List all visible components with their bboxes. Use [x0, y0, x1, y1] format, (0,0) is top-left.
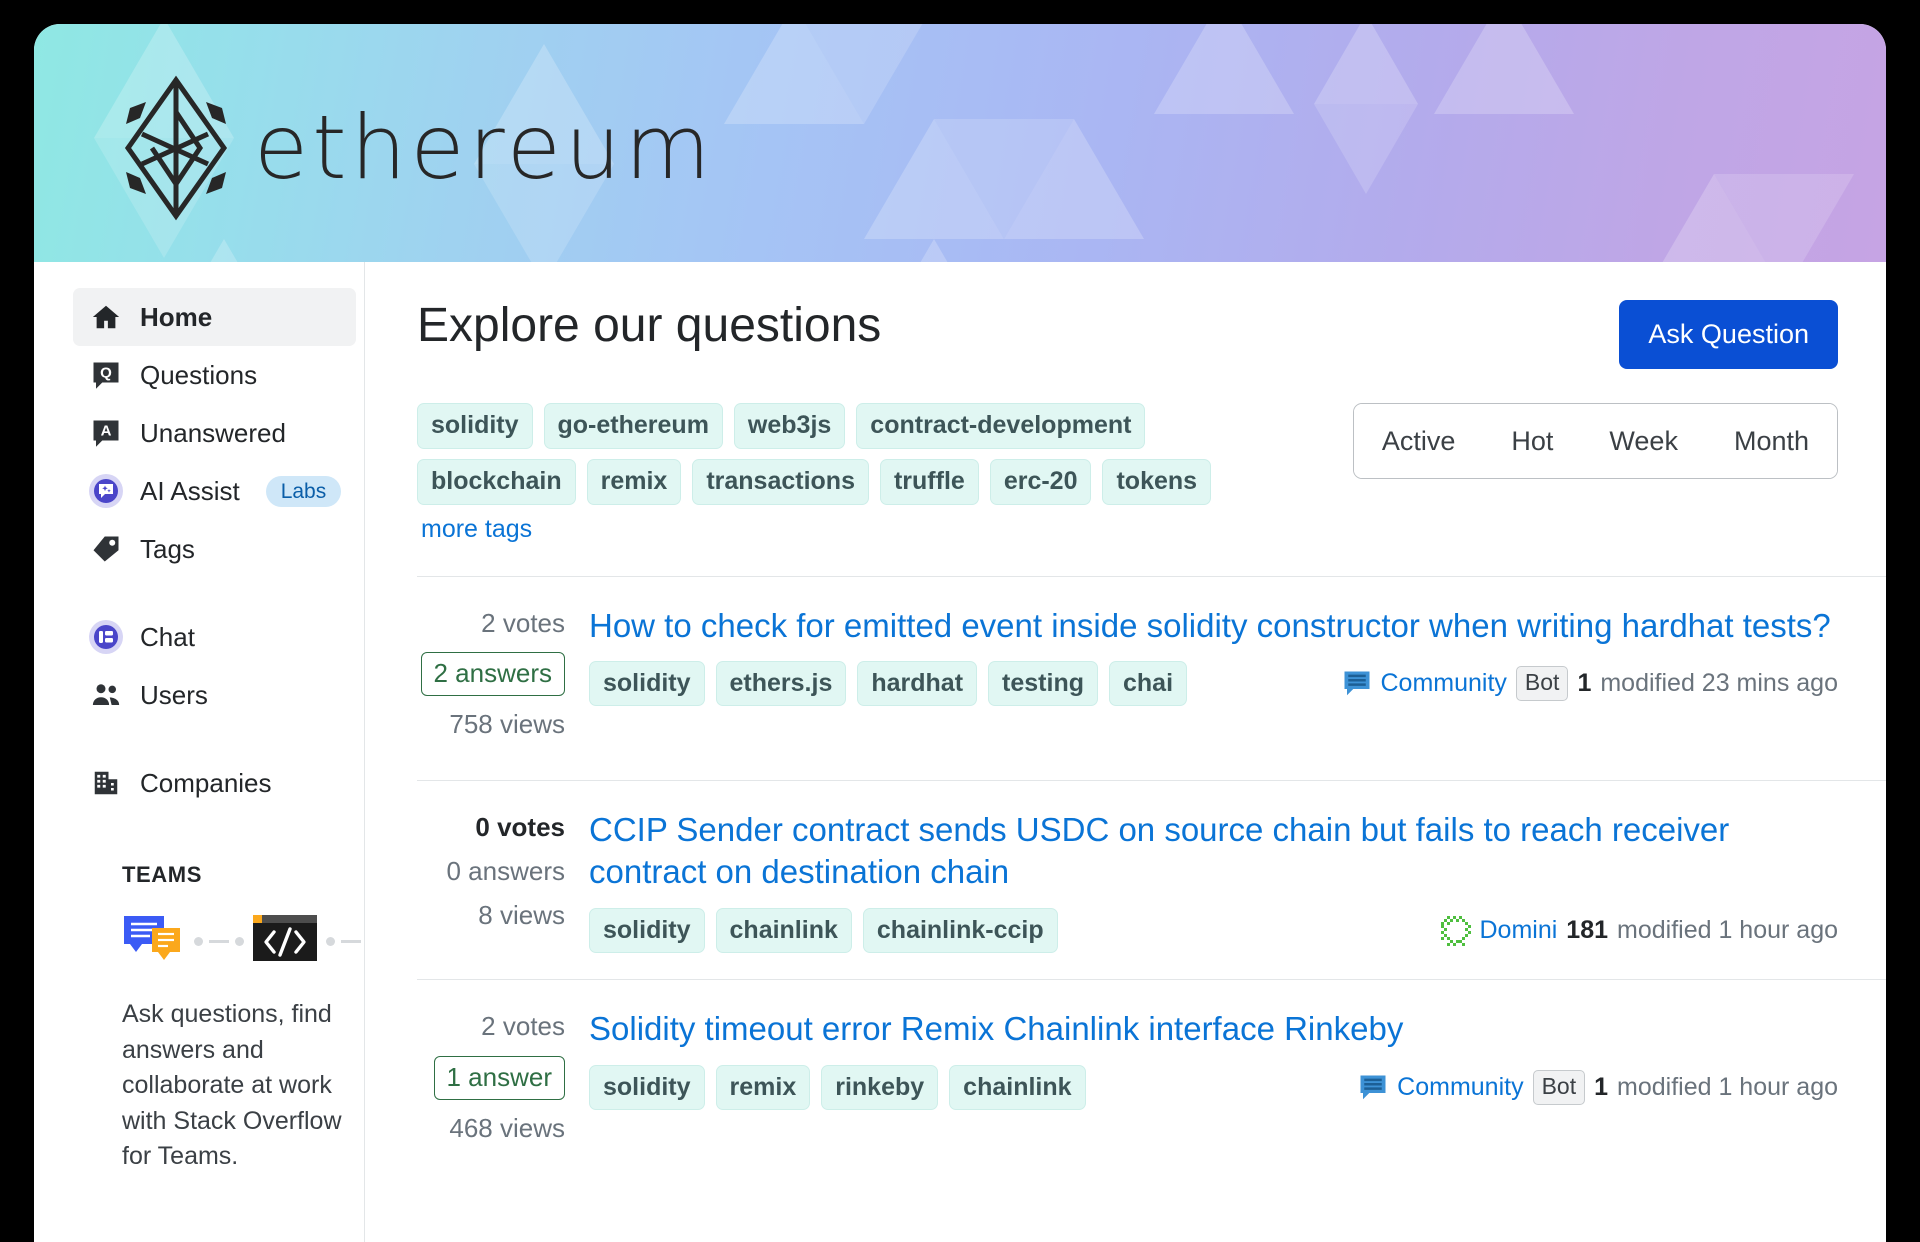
view-count: 468 views [417, 1114, 565, 1144]
community-stack-icon [1342, 669, 1372, 699]
home-icon [89, 300, 123, 334]
main-column: Explore our questions Ask Question solid… [365, 262, 1886, 1242]
tag-cloud: solidity go-ethereum web3js contract-dev… [417, 403, 1257, 544]
sidebar-item-ai-assist[interactable]: AI Assist Labs [73, 462, 356, 520]
teams-heading: TEAMS [122, 862, 364, 888]
question-tags: solidity ethers.js hardhat testing chai [589, 661, 1187, 707]
activity-time: modified 1 hour ago [1617, 1073, 1838, 1102]
tag-chip[interactable]: blockchain [417, 459, 576, 505]
reputation: 1 [1577, 669, 1591, 698]
sidebar-item-unanswered[interactable]: A Unanswered [73, 404, 356, 462]
tag-chip[interactable]: chainlink [716, 908, 852, 954]
code-window-icon [252, 914, 318, 969]
filter-row: solidity go-ethereum web3js contract-dev… [417, 369, 1886, 544]
tab-active[interactable]: Active [1354, 404, 1484, 478]
question-bubble-icon: Q [89, 358, 123, 392]
sidebar-item-label: AI Assist [140, 476, 240, 507]
site-wordmark: ethereum [254, 104, 714, 192]
decorative-triangle [154, 239, 294, 262]
question-meta: Domini 181 modified 1 hour ago [1441, 916, 1839, 946]
decorative-triangle [1434, 24, 1574, 114]
question-body: CCIP Sender contract sends USDC on sourc… [589, 809, 1838, 953]
tag-chip[interactable]: chai [1109, 661, 1187, 707]
question-footer: solidity chainlink chainlink-ccip [589, 908, 1838, 954]
answer-bubble-icon: A [89, 416, 123, 450]
decorative-triangle [1314, 104, 1418, 194]
question-title-link[interactable]: CCIP Sender contract sends USDC on sourc… [589, 809, 1838, 893]
question-stats: 2 votes 2 answers 758 views [417, 605, 589, 755]
building-icon [89, 766, 123, 800]
tag-chip[interactable]: truffle [880, 459, 979, 505]
site-logo[interactable]: ethereum [112, 72, 714, 224]
device-frame: ethereum Home [0, 0, 1920, 1242]
page-title: Explore our questions [417, 300, 881, 353]
reputation: 1 [1594, 1073, 1608, 1102]
bot-badge: Bot [1516, 666, 1569, 701]
ask-question-button[interactable]: Ask Question [1619, 300, 1838, 369]
question-title-link[interactable]: Solidity timeout error Remix Chainlink i… [589, 1008, 1838, 1050]
left-sidebar: Home Q Questions A [34, 262, 365, 1242]
tag-chip[interactable]: solidity [417, 403, 533, 449]
decorative-triangle [794, 24, 934, 124]
question-stats: 2 votes 1 answer 468 views [417, 1008, 589, 1158]
sidebar-item-companies[interactable]: Companies [73, 754, 356, 812]
author-link[interactable]: Community [1397, 1073, 1523, 1102]
question-row[interactable]: 2 votes 1 answer 468 views Solidity time… [417, 979, 1886, 1184]
question-list: 2 votes 2 answers 758 views How to check… [417, 576, 1886, 1185]
vote-count: 2 votes [417, 609, 565, 639]
question-row[interactable]: 2 votes 2 answers 758 views How to check… [417, 576, 1886, 781]
answer-count: 1 answer [434, 1056, 566, 1100]
tag-chip[interactable]: transactions [692, 459, 869, 505]
community-stack-icon [1358, 1073, 1388, 1103]
question-body: How to check for emitted event inside so… [589, 605, 1838, 755]
connector-line [194, 937, 244, 946]
tag-chip[interactable]: erc-20 [990, 459, 1092, 505]
sidebar-item-label: Home [140, 302, 212, 333]
question-row[interactable]: 0 votes 0 answers 8 views CCIP Sender co… [417, 780, 1886, 979]
tag-chip[interactable]: solidity [589, 908, 705, 954]
tag-chip[interactable]: solidity [589, 1065, 705, 1111]
activity-time: modified 1 hour ago [1617, 916, 1838, 945]
ai-sparkle-icon [89, 474, 123, 508]
main-header: Explore our questions Ask Question [417, 262, 1886, 369]
sidebar-spacer [34, 724, 364, 754]
question-stats: 0 votes 0 answers 8 views [417, 809, 589, 953]
sidebar-item-home[interactable]: Home [73, 288, 356, 346]
tag-chip[interactable]: remix [716, 1065, 811, 1111]
question-footer: solidity ethers.js hardhat testing chai [589, 661, 1838, 707]
decorative-triangle [864, 239, 1004, 262]
author-link[interactable]: Community [1381, 669, 1507, 698]
question-title-link[interactable]: How to check for emitted event inside so… [589, 605, 1838, 647]
question-meta: Community Bot 1 modified 23 mins ago [1342, 666, 1839, 701]
sidebar-item-label: Users [140, 680, 208, 711]
tag-chip[interactable]: tokens [1102, 459, 1211, 505]
sidebar-item-label: Chat [140, 622, 195, 653]
question-meta: Community Bot 1 modified 1 hour ago [1358, 1070, 1838, 1105]
tab-month[interactable]: Month [1706, 404, 1837, 478]
sidebar-item-chat[interactable]: Chat [73, 608, 356, 666]
tag-chip[interactable]: ethers.js [716, 661, 847, 707]
chat-icon [89, 620, 123, 654]
sidebar-item-label: Tags [140, 534, 195, 565]
tag-chip[interactable]: web3js [734, 403, 845, 449]
decorative-triangle [1714, 174, 1854, 262]
activity-time: modified 23 mins ago [1600, 669, 1838, 698]
tag-icon [89, 532, 123, 566]
tag-chip[interactable]: testing [988, 661, 1098, 707]
sidebar-spacer [34, 578, 364, 608]
teams-description: Ask questions, find answers and collabor… [122, 997, 377, 1175]
sidebar-item-label: Companies [140, 768, 272, 799]
page-content: Home Q Questions A [34, 262, 1886, 1242]
answer-count: 0 answers [417, 857, 565, 887]
tag-chip[interactable]: chainlink [949, 1065, 1085, 1111]
browser-viewport: ethereum Home [34, 24, 1886, 1242]
tag-chip[interactable]: rinkeby [821, 1065, 938, 1111]
ethereum-diamond-logo-icon [112, 72, 240, 224]
sidebar-item-label: Unanswered [140, 418, 286, 449]
svg-text:Q: Q [100, 365, 112, 382]
tab-week[interactable]: Week [1581, 404, 1706, 478]
tab-hot[interactable]: Hot [1483, 404, 1581, 478]
bot-badge: Bot [1533, 1070, 1586, 1105]
vote-count: 0 votes [417, 813, 565, 843]
question-body: Solidity timeout error Remix Chainlink i… [589, 1008, 1838, 1158]
question-tags: solidity remix rinkeby chainlink [589, 1065, 1086, 1111]
decorative-triangle [1004, 119, 1144, 239]
svg-text:A: A [101, 423, 112, 440]
more-tags-link[interactable]: more tags [421, 515, 532, 544]
identicon-green-icon [1441, 916, 1471, 946]
vote-count: 2 votes [417, 1012, 565, 1042]
site-banner: ethereum [34, 24, 1886, 262]
question-footer: solidity remix rinkeby chainlink [589, 1065, 1838, 1111]
decorative-triangle [1154, 24, 1294, 114]
reputation: 181 [1566, 916, 1608, 945]
tag-chip[interactable]: chainlink-ccip [863, 908, 1058, 954]
sidebar-item-label: Questions [140, 360, 257, 391]
tag-chip[interactable]: hardhat [857, 661, 977, 707]
view-count: 8 views [417, 901, 565, 931]
labs-badge: Labs [266, 476, 342, 507]
view-count: 758 views [417, 710, 565, 740]
tag-chip[interactable]: go-ethereum [544, 403, 723, 449]
answer-count: 2 answers [421, 652, 566, 696]
chat-bubbles-icon [122, 914, 186, 969]
decorative-triangle [1314, 24, 1418, 104]
sort-tab-group: Active Hot Week Month [1353, 403, 1838, 479]
teams-graphic [122, 914, 364, 969]
tag-chip[interactable]: solidity [589, 661, 705, 707]
tag-chip[interactable]: remix [587, 459, 682, 505]
question-tags: solidity chainlink chainlink-ccip [589, 908, 1058, 954]
sidebar-item-questions[interactable]: Q Questions [73, 346, 356, 404]
author-link[interactable]: Domini [1480, 916, 1558, 945]
tag-chip[interactable]: contract-development [856, 403, 1145, 449]
sidebar-item-tags[interactable]: Tags [73, 520, 356, 578]
users-icon [89, 678, 123, 712]
sidebar-item-users[interactable]: Users [73, 666, 356, 724]
